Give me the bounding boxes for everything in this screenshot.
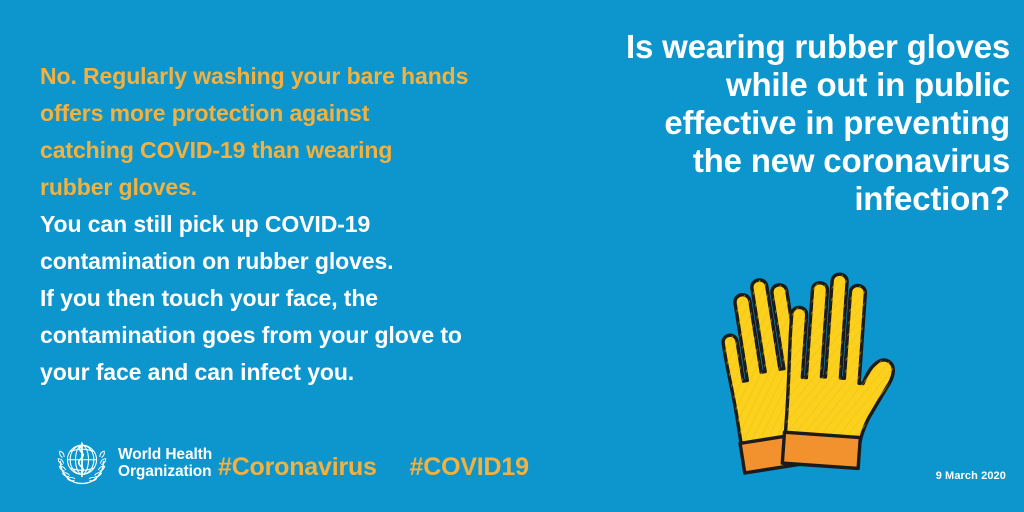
answer-amber-line-1: No. Regularly washing your bare hands — [40, 58, 560, 95]
headline-line-1: Is wearing rubber gloves — [540, 28, 1010, 66]
answer-amber-line-3: catching COVID-19 than wearing — [40, 132, 560, 169]
who-wordmark-line-2: Organization — [118, 463, 212, 481]
answer-white-line-4: contamination goes from your glove to — [40, 317, 560, 354]
date-stamp: 9 March 2020 — [936, 470, 1006, 482]
headline-line-4: the new coronavirus — [540, 142, 1010, 180]
headline-line-2: while out in public — [540, 66, 1010, 104]
who-logo: World Health Organization — [55, 436, 212, 490]
headline-line-5: infection? — [540, 180, 1010, 218]
headline-line-3: effective in preventing — [540, 104, 1010, 142]
answer-white-line-3: If you then touch your face, the — [40, 280, 560, 317]
answer-amber-line-4: rubber gloves. — [40, 169, 560, 206]
who-emblem-icon — [55, 436, 109, 490]
answer-amber-line-2: offers more protection against — [40, 95, 560, 132]
hashtag-coronavirus[interactable]: #Coronavirus — [218, 453, 377, 481]
headline-question: Is wearing rubber gloves while out in pu… — [540, 28, 1010, 218]
who-wordmark: World Health Organization — [118, 446, 212, 481]
hashtags: #Coronavirus #COVID19 — [218, 453, 529, 482]
answer-white-line-5: your face and can infect you. — [40, 354, 560, 391]
answer-block: No. Regularly washing your bare hands of… — [40, 58, 560, 391]
hashtag-covid19[interactable]: #COVID19 — [410, 453, 529, 481]
who-covid19-infographic: Is wearing rubber gloves while out in pu… — [0, 0, 1024, 512]
answer-white-line-1: You can still pick up COVID-19 — [40, 206, 560, 243]
who-wordmark-line-1: World Health — [118, 446, 212, 464]
rubber-gloves-illustration — [700, 258, 930, 483]
answer-white-line-2: contamination on rubber gloves. — [40, 243, 560, 280]
